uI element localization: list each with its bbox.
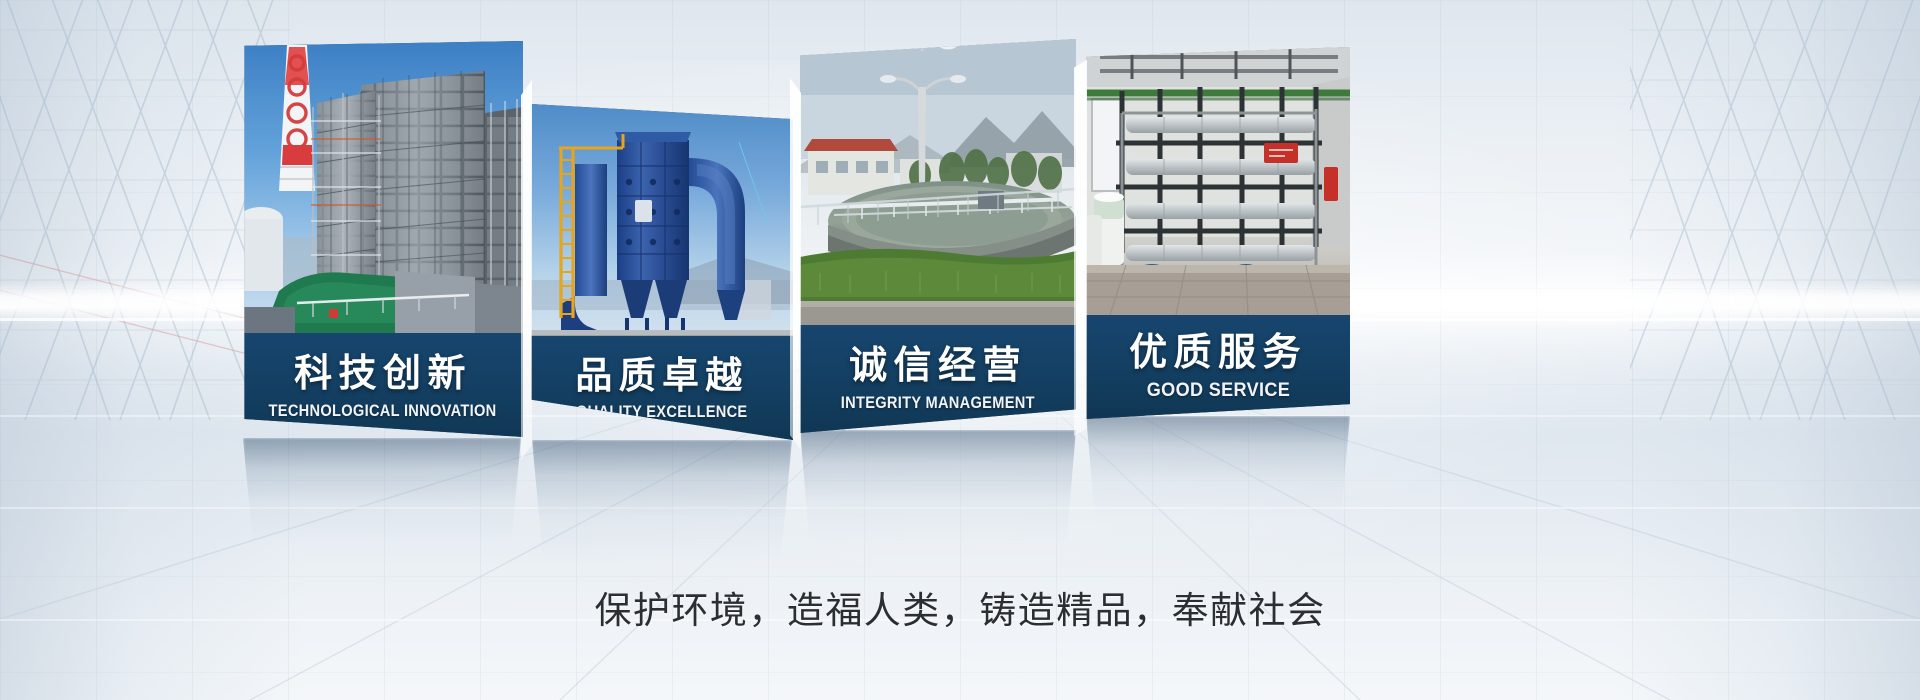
panel-technological-innovation[interactable]: 科技创新 TECHNOLOGICAL INNOVATION: [243, 41, 523, 441]
panel-title-en-4: GOOD SERVICE: [1146, 381, 1289, 400]
panel-title-zh-2: 品质卓越: [575, 357, 748, 394]
panel-title-zh-3: 诚信经营: [849, 347, 1027, 385]
panel-title-en-1: TECHNOLOGICAL INNOVATION: [269, 402, 497, 419]
panel-quality-excellence[interactable]: 品质卓越 QUALITY EXCELLENCE: [531, 104, 793, 440]
panel-caption-2: 品质卓越 QUALITY EXCELLENCE: [531, 336, 793, 440]
panel-good-service[interactable]: 优质服务 GOOD SERVICE: [1086, 47, 1350, 419]
panel-title-en-2: QUALITY EXCELLENCE: [576, 403, 748, 420]
panel-caption-1: 科技创新 TECHNOLOGICAL INNOVATION: [243, 333, 523, 441]
panel-caption-3: 诚信经营 INTEGRITY MANAGEMENT: [800, 325, 1076, 433]
panel-integrity-management[interactable]: 诚信经营 INTEGRITY MANAGEMENT: [800, 39, 1076, 433]
banner-stage: 科技创新 TECHNOLOGICAL INNOVATION: [0, 0, 1920, 700]
panel-title-zh-1: 科技创新: [294, 355, 472, 393]
banner-tagline: 保护环境，造福人类，铸造精品，奉献社会: [0, 580, 1920, 634]
panel-caption-4: 优质服务 GOOD SERVICE: [1086, 315, 1350, 419]
panel-title-zh-4: 优质服务: [1129, 334, 1307, 372]
panel-title-en-3: INTEGRITY MANAGEMENT: [841, 394, 1035, 411]
